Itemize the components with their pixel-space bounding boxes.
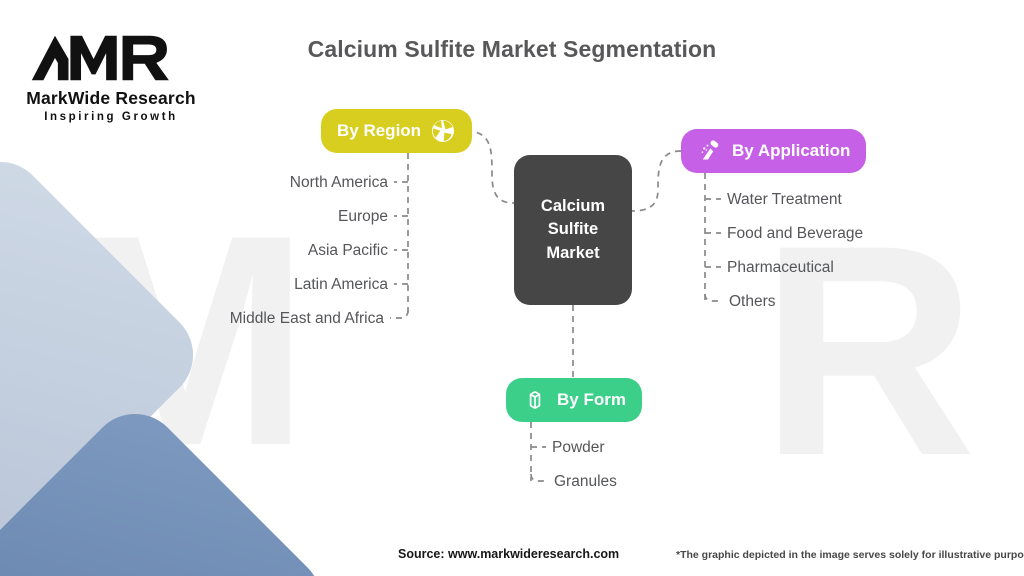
leaf-form-1: Granules [554, 474, 617, 490]
source-label: Source: www.markwideresearch.com [398, 547, 619, 561]
leaf-region-1: Europe [338, 209, 388, 225]
connector-lines [0, 0, 1024, 576]
disclaimer-label: *The graphic depicted in the image serve… [676, 549, 1024, 561]
globe-icon [430, 118, 456, 144]
badge-by-application-label: By Application [732, 141, 850, 161]
shaker-icon [697, 138, 723, 164]
center-node-line-3: Market [541, 242, 605, 265]
badge-by-form-label: By Form [557, 390, 626, 410]
leaf-form-0: Powder [552, 440, 605, 456]
center-node: Calcium Sulfite Market [514, 155, 632, 305]
leaf-region-3: Latin America [294, 277, 388, 293]
badge-by-region-label: By Region [337, 121, 421, 141]
badge-by-application[interactable]: By Application [681, 129, 866, 173]
connector-application-to-center [632, 151, 681, 211]
leaf-application-2: Pharmaceutical [727, 260, 834, 276]
leaf-region-2: Asia Pacific [308, 243, 388, 259]
leaf-region-0: North America [290, 175, 388, 191]
center-node-line-2: Sulfite [541, 218, 605, 241]
connector-form-stub-1 [531, 474, 548, 481]
infographic-canvas: M R MarkWide Research Inspiring Growth C… [0, 0, 1024, 576]
center-node-line-1: Calcium [541, 195, 605, 218]
badge-by-region[interactable]: By Region [321, 109, 472, 153]
leaf-application-1: Food and Beverage [727, 226, 863, 242]
connector-region-stub-4 [390, 310, 408, 318]
connector-region-to-center [466, 131, 514, 203]
cylinder-icon [522, 387, 548, 413]
connector-application-stub-3 [705, 294, 722, 301]
leaf-application-3: Others [729, 294, 776, 310]
badge-by-form[interactable]: By Form [506, 378, 642, 422]
leaf-application-0: Water Treatment [727, 192, 842, 208]
leaf-region-4: Middle East and Africa [230, 311, 384, 327]
